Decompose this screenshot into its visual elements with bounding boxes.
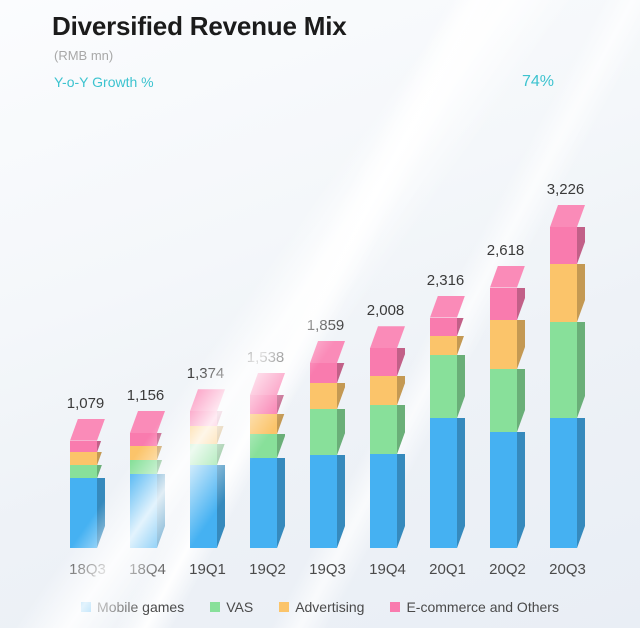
bar-top-cap — [490, 266, 525, 288]
bar-segment-front — [490, 288, 517, 321]
bar-segment-side — [277, 395, 285, 414]
bar-segment-side — [97, 478, 105, 548]
bar-segment-side — [157, 460, 165, 474]
bar-segment[interactable] — [250, 458, 277, 548]
bar-top-cap — [550, 205, 585, 227]
bar-segment-front — [550, 264, 577, 322]
bar-segment[interactable] — [490, 320, 517, 369]
legend-label: E-commerce and Others — [406, 599, 559, 615]
bar-segment-front — [430, 336, 457, 355]
bar-top-cap — [370, 326, 405, 348]
bar-segment-front — [310, 383, 337, 409]
bar-segment-side — [517, 432, 525, 548]
bar-segment-side — [517, 320, 525, 369]
bar-column[interactable]: 1,079 — [70, 0, 105, 548]
bar-segment-side — [217, 426, 225, 444]
bar-segment-side — [217, 465, 225, 548]
bar-segment-side — [277, 414, 285, 434]
bar-segment-front — [70, 465, 97, 478]
bar-segment-side — [277, 458, 285, 548]
bar-segment-side — [457, 318, 465, 337]
bar-segment[interactable] — [130, 460, 157, 474]
chart-legend: Mobile gamesVASAdvertisingE-commerce and… — [0, 596, 640, 618]
bar-column[interactable]: 1,538 — [250, 0, 285, 548]
bar-segment-front — [250, 414, 277, 434]
bar-segment-front — [550, 418, 577, 548]
bar-segment-front — [370, 348, 397, 376]
bar-segment[interactable] — [490, 288, 517, 321]
legend-label: VAS — [226, 599, 253, 615]
bar-segment-front — [190, 426, 217, 444]
bar-top-cap — [310, 341, 345, 363]
bar-segment-side — [397, 376, 405, 405]
bar-segment[interactable] — [250, 395, 277, 414]
bar-column[interactable]: 2,316 — [430, 0, 465, 548]
stacked-bar-plot: 1,0791,1561,3741,5381,8592,0082,3162,618… — [0, 0, 640, 628]
bar-column[interactable]: 3,226 — [550, 0, 585, 548]
legend-swatch-icon — [279, 602, 289, 612]
bar-segment-side — [337, 409, 345, 455]
bar-top-cap — [130, 411, 165, 433]
bar-segment-side — [457, 336, 465, 355]
legend-item[interactable]: Mobile games — [81, 599, 184, 615]
bar-segment-side — [517, 369, 525, 432]
bar-column[interactable]: 1,374 — [190, 0, 225, 548]
bar-segment[interactable] — [370, 348, 397, 376]
bar-segment-side — [577, 322, 585, 418]
bar-segment-front — [370, 454, 397, 548]
bar-segment-side — [157, 446, 165, 460]
bar-value-label: 3,226 — [547, 181, 585, 198]
bar-segment[interactable] — [310, 363, 337, 383]
bar-value-label: 2,618 — [487, 242, 525, 259]
bar-segment-front — [430, 318, 457, 337]
bar-segment[interactable] — [190, 426, 217, 444]
bar-top-cap — [70, 419, 105, 441]
bar-value-label: 1,859 — [307, 317, 345, 334]
bar-segment-front — [310, 409, 337, 455]
bar-segment[interactable] — [190, 411, 217, 426]
bar-segment-front — [430, 418, 457, 548]
bar-value-label: 2,316 — [427, 272, 465, 289]
bar-top-cap — [250, 373, 285, 395]
bar-value-label: 1,079 — [67, 395, 105, 412]
bar-segment-side — [277, 434, 285, 458]
bar-segment-side — [97, 441, 105, 453]
bar-top-cap — [430, 296, 465, 318]
bar-segment-front — [250, 458, 277, 548]
bar-segment-side — [97, 452, 105, 465]
bar-segment-side — [337, 383, 345, 409]
legend-swatch-icon — [210, 602, 220, 612]
bar-segment[interactable] — [250, 414, 277, 434]
bar-segment-front — [130, 474, 157, 548]
bar-segment-front — [70, 452, 97, 465]
bar-value-label: 1,374 — [187, 365, 225, 382]
bar-segment-front — [430, 355, 457, 418]
bar-segment[interactable] — [190, 465, 217, 548]
legend-swatch-icon — [81, 602, 91, 612]
bar-segment-front — [370, 405, 397, 454]
bar-segment-side — [217, 411, 225, 426]
bar-segment-side — [457, 355, 465, 418]
bar-segment-front — [550, 227, 577, 264]
bar-segment[interactable] — [430, 418, 457, 548]
bar-segment-front — [70, 478, 97, 548]
bar-segment-side — [397, 405, 405, 454]
bar-segment[interactable] — [190, 444, 217, 465]
bar-segment-front — [190, 444, 217, 465]
bar-column[interactable]: 2,618 — [490, 0, 525, 548]
bar-segment-side — [97, 465, 105, 478]
bar-segment[interactable] — [130, 433, 157, 446]
bar-segment-front — [490, 369, 517, 432]
bar-segment[interactable] — [550, 418, 577, 548]
bar-segment-side — [397, 348, 405, 376]
bar-column[interactable]: 2,008 — [370, 0, 405, 548]
bar-segment-side — [157, 474, 165, 548]
bar-segment-front — [130, 433, 157, 446]
legend-label: Mobile games — [97, 599, 184, 615]
bar-top-cap — [190, 389, 225, 411]
bar-segment[interactable] — [370, 454, 397, 548]
slide-canvas: Diversified Revenue Mix (RMB mn) Y-o-Y G… — [0, 0, 640, 628]
bar-segment[interactable] — [430, 318, 457, 337]
bar-value-label: 1,538 — [247, 349, 285, 366]
bar-segment[interactable] — [310, 383, 337, 409]
bar-segment-front — [70, 441, 97, 453]
bar-segment[interactable] — [490, 432, 517, 548]
bar-segment-front — [250, 395, 277, 414]
bar-segment[interactable] — [70, 465, 97, 478]
bar-segment[interactable] — [370, 376, 397, 405]
bar-segment[interactable] — [430, 355, 457, 418]
bar-segment-front — [310, 363, 337, 383]
bar-segment-front — [490, 432, 517, 548]
bar-segment-side — [397, 454, 405, 548]
bar-segment[interactable] — [70, 441, 97, 453]
bar-segment-front — [310, 455, 337, 548]
bar-segment[interactable] — [430, 336, 457, 355]
legend-item[interactable]: E-commerce and Others — [390, 599, 559, 615]
bar-segment[interactable] — [550, 264, 577, 322]
bar-segment-front — [550, 322, 577, 418]
bar-segment[interactable] — [70, 452, 97, 465]
bar-column[interactable]: 1,156 — [130, 0, 165, 548]
bar-segment-side — [157, 433, 165, 446]
bar-value-label: 1,156 — [127, 387, 165, 404]
bar-segment-front — [370, 376, 397, 405]
bar-segment[interactable] — [250, 434, 277, 458]
legend-item[interactable]: Advertising — [279, 599, 364, 615]
bar-segment-side — [337, 363, 345, 383]
bar-segment-side — [577, 418, 585, 548]
legend-item[interactable]: VAS — [210, 599, 253, 615]
legend-swatch-icon — [390, 602, 400, 612]
bar-segment-side — [577, 227, 585, 264]
bar-segment-side — [457, 418, 465, 548]
bar-segment-side — [517, 288, 525, 321]
bar-segment-side — [217, 444, 225, 465]
x-axis-tick-label: 20Q3 — [533, 561, 603, 578]
bar-segment[interactable] — [550, 227, 577, 264]
x-axis-labels: 18Q318Q419Q119Q219Q319Q420Q120Q220Q3 — [0, 561, 640, 585]
bar-segment[interactable] — [130, 446, 157, 460]
bar-segment-side — [337, 455, 345, 548]
bar-segment-front — [130, 446, 157, 460]
bar-segment[interactable] — [310, 409, 337, 455]
bar-segment[interactable] — [70, 478, 97, 548]
bar-value-label: 2,008 — [367, 302, 405, 319]
bar-column[interactable]: 1,859 — [310, 0, 345, 548]
bar-segment-front — [130, 460, 157, 474]
bar-segment-front — [190, 465, 217, 548]
bar-segment[interactable] — [370, 405, 397, 454]
bar-segment-side — [577, 264, 585, 322]
bar-segment[interactable] — [310, 455, 337, 548]
bar-segment[interactable] — [490, 369, 517, 432]
bar-segment-front — [190, 411, 217, 426]
bar-segment[interactable] — [550, 322, 577, 418]
legend-label: Advertising — [295, 599, 364, 615]
bar-segment-front — [250, 434, 277, 458]
bar-segment-front — [490, 320, 517, 369]
bar-segment[interactable] — [130, 474, 157, 548]
